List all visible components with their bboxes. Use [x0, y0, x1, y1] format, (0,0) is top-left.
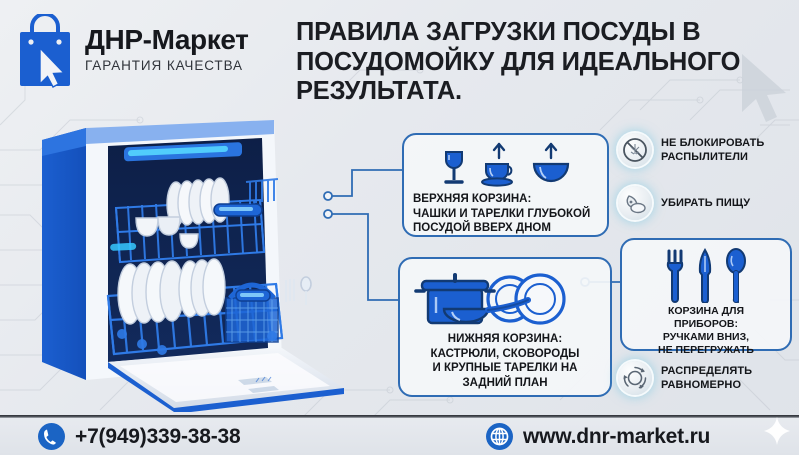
tip-food-label: УБИРАТЬ ПИЩУ [661, 196, 750, 210]
cup-saucer-icon [478, 142, 520, 188]
upper-basket-text: ВЕРХНЯЯ КОРЗИНА: ЧАШКИ И ТАРЕЛКИ ГЛУБОКО… [413, 192, 598, 236]
upper-basket-line1: ЧАШКИ И ТАРЕЛКИ ГЛУБОКОЙ [413, 207, 598, 222]
tip-remove-food: УБИРАТЬ ПИЩУ [618, 186, 750, 220]
cutlery-line1: РУЧКАМИ ВНИЗ, [630, 331, 782, 344]
page-headline: ПРАВИЛА ЗАГРУЗКИ ПОСУДЫ В ПОСУДОМОЙКУ ДЛ… [296, 18, 776, 107]
pot-plates-pan-icon-group [410, 267, 600, 329]
upper-basket-line2: ПОСУДОЙ ВВЕРХ ДНОМ [413, 221, 598, 236]
header: ДНР-Маркет ГАРАНТИЯ КАЧЕСТВА ПРАВИЛА ЗАГ… [0, 0, 799, 120]
food-scraps-icon [618, 186, 652, 220]
lower-basket-title: НИЖНЯЯ КОРЗИНА: [409, 332, 601, 347]
globe-icon [486, 423, 513, 450]
fork-icon [665, 247, 685, 303]
bowl-icon [529, 142, 573, 188]
footer: +7(949)339-38-38 www.dnr-market.ru [0, 418, 799, 455]
lower-basket-line2: И КРУПНЫЕ ТАРЕЛКИ НА [409, 361, 601, 376]
cutlery-text: КОРЗИНА ДЛЯ ПРИБОРОВ: РУЧКАМИ ВНИЗ, НЕ П… [630, 305, 782, 357]
rotating-arrows-icon [618, 361, 652, 395]
footer-website-text: www.dnr-market.ru [523, 425, 710, 449]
lower-basket-icon-row [409, 267, 601, 329]
lower-basket-line1: КАСТРЮЛИ, СКОВОРОДЫ [409, 347, 601, 362]
tip-spray-line2: РАСПЫЛИТЕЛИ [661, 150, 764, 164]
footer-phone[interactable]: +7(949)339-38-38 [38, 423, 241, 450]
card-cutlery-basket: КОРЗИНА ДЛЯ ПРИБОРОВ: РУЧКАМИ ВНИЗ, НЕ П… [620, 238, 792, 351]
tip-spray-line1: НЕ БЛОКИРОВАТЬ [661, 136, 764, 150]
sparkle-decoration-icon [762, 416, 792, 446]
card-upper-basket: ВЕРХНЯЯ КОРЗИНА: ЧАШКИ И ТАРЕЛКИ ГЛУБОКО… [402, 133, 609, 237]
tip-food-line1: УБИРАТЬ ПИЩУ [661, 196, 750, 210]
card-lower-basket: НИЖНЯЯ КОРЗИНА: КАСТРЮЛИ, СКОВОРОДЫ И КР… [398, 257, 612, 397]
cutlery-line2: НЕ ПЕРЕГРУЖАТЬ [630, 344, 782, 357]
cutlery-icon-row [630, 247, 782, 303]
tip-even-line2: РАВНОМЕРНО [661, 378, 752, 392]
infographic-poster: ДНР-Маркет ГАРАНТИЯ КАЧЕСТВА ПРАВИЛА ЗАГ… [0, 0, 799, 455]
upper-basket-icon-row [413, 142, 598, 188]
brand-subtitle: ГАРАНТИЯ КАЧЕСТВА [85, 56, 248, 76]
tip-spray-label: НЕ БЛОКИРОВАТЬ РАСПЫЛИТЕЛИ [661, 136, 764, 165]
shopping-bag-cursor-icon [14, 14, 76, 88]
spoon-icon [725, 247, 747, 303]
phone-icon [38, 423, 65, 450]
footer-phone-text: +7(949)339-38-38 [75, 425, 241, 449]
lower-basket-text: НИЖНЯЯ КОРЗИНА: КАСТРЮЛИ, СКОВОРОДЫ И КР… [409, 332, 601, 391]
tip-even-label: РАСПРЕДЕЛЯТЬ РАВНОМЕРНО [661, 364, 752, 393]
cutlery-title-line1: КОРЗИНА ДЛЯ [630, 305, 782, 318]
wine-glass-icon [439, 144, 469, 188]
knife-icon [697, 247, 713, 303]
tip-spray-arms: НЕ БЛОКИРОВАТЬ РАСПЫЛИТЕЛИ [618, 133, 764, 167]
cutlery-title-line2: ПРИБОРОВ: [630, 318, 782, 331]
upper-basket-title: ВЕРХНЯЯ КОРЗИНА: [413, 192, 598, 207]
up-arrow-icon [546, 144, 556, 158]
lower-basket-line3: ЗАДНИЙ ПЛАН [409, 376, 601, 391]
no-spray-prohibited-icon [618, 133, 652, 167]
brand-logo[interactable]: ДНР-Маркет ГАРАНТИЯ КАЧЕСТВА [14, 14, 248, 88]
footer-website[interactable]: www.dnr-market.ru [486, 423, 710, 450]
tip-even-line1: РАСПРЕДЕЛЯТЬ [661, 364, 752, 378]
up-arrow-icon [494, 144, 504, 158]
brand-title: ДНР-Маркет [85, 26, 248, 55]
tip-distribute-evenly: РАСПРЕДЕЛЯТЬ РАВНОМЕРНО [618, 361, 752, 395]
